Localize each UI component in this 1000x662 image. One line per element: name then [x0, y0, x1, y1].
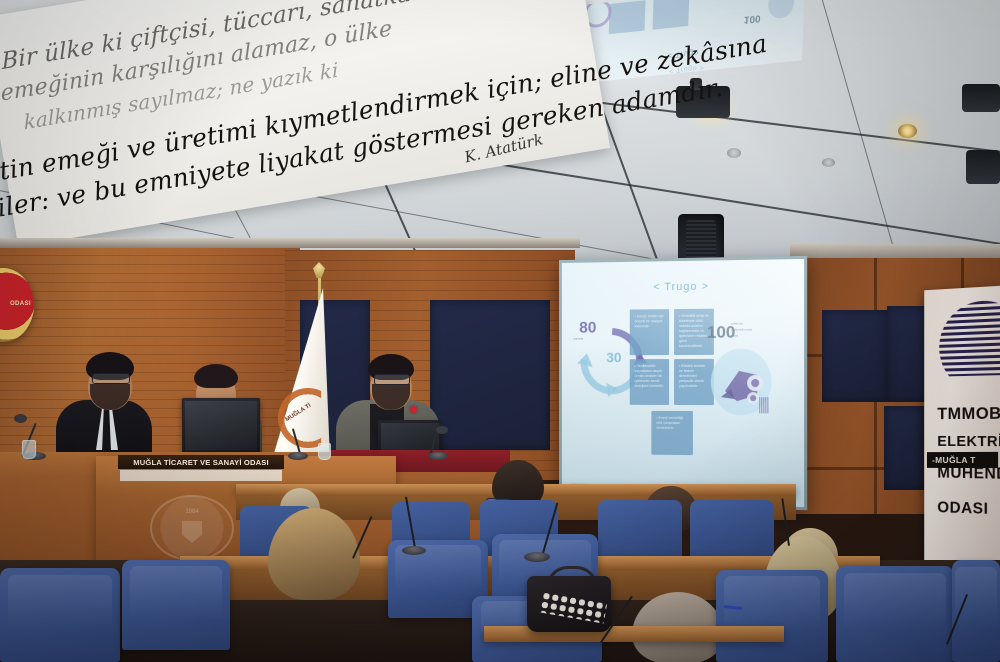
ceiling-spotlight: [898, 124, 917, 138]
rollup-sub-label: -MUĞLA T: [932, 455, 976, 465]
microphone-base: [428, 452, 448, 460]
slide-box: • Enerji verimliliği etüt çalışmaları de…: [651, 411, 693, 455]
audience-chair[interactable]: [0, 568, 120, 662]
ceiling-spotlight: [727, 148, 741, 158]
glasses-icon: [374, 374, 410, 385]
cycle-small-number: 30: [606, 349, 621, 365]
slide-box: • Enerji, üretim için önemli bir maliyet…: [630, 309, 669, 355]
ceiling-equipment: [962, 84, 1000, 112]
microphone-base: [402, 546, 426, 555]
audience-chair[interactable]: [598, 500, 682, 558]
podium-blank-plate: [120, 470, 282, 481]
audience-chair[interactable]: [690, 500, 774, 558]
slide-stat-caption-1: yüzde yüz: [731, 322, 776, 326]
slide-box: • Elektrik tesisatı ve bakım denetimleri…: [674, 359, 714, 405]
cycle-caption: oranında: [573, 338, 588, 341]
ceiling-spotlight: [822, 158, 835, 167]
audience-chair[interactable]: [122, 560, 230, 650]
slide-stat-caption-3: hedefi: [731, 334, 776, 338]
cycle-big-number: 80: [579, 320, 596, 338]
microphone-head-icon: [14, 414, 27, 423]
tmmob-logo-icon: [939, 299, 1000, 377]
flag-emblem-label: MUĞLA Tİ: [285, 403, 313, 423]
podium-nameplate: MUĞLA TİCARET VE SANAYİ ODASI: [118, 455, 284, 469]
ceiling-equipment: [966, 150, 1000, 184]
microphone-base: [288, 452, 308, 460]
lapel-pin-icon: [410, 406, 417, 413]
slide-box: • Yenilenebilir kaynaklara dayalı üretim…: [630, 359, 669, 405]
rollup-line-1: TMMOB: [937, 404, 1000, 425]
rollup-banner: TMMOB ELEKTRİK MÜHENDİSLERİ ODASI: [924, 286, 1000, 581]
wall-trim: [0, 238, 580, 248]
conference-hall-photo: 100 < Trugo > < Trugo > Bir ülke ki çift…: [0, 0, 1000, 662]
audience-chair[interactable]: [716, 570, 828, 662]
glasses-icon: [92, 373, 130, 384]
wall-seal-label: ODASI: [10, 301, 31, 307]
water-glass: [22, 440, 36, 459]
acoustic-panel: [884, 406, 924, 490]
projection-screen-frame: < Trugo > 80 30 oranında • Enerji, üreti…: [559, 256, 807, 510]
microphone-base: [524, 552, 550, 562]
wall-trim: [790, 244, 1000, 258]
acoustic-panel: [822, 310, 888, 402]
reflection-stat-number: 100: [744, 12, 761, 25]
podium-nameplate-text: MUĞLA TİCARET VE SANAYİ ODASI: [133, 458, 268, 467]
panelist-center-hair: [194, 364, 238, 388]
audience-chair[interactable]: [836, 566, 954, 662]
podium-seal-year: 1984: [152, 509, 232, 515]
slide-title: < Trugo >: [562, 279, 804, 294]
projection-screen: < Trugo > 80 30 oranında • Enerji, üreti…: [562, 259, 804, 507]
rollup-line-2: ELEKTRİK: [937, 433, 1000, 450]
rollup-line-4: ODASI: [937, 499, 988, 519]
water-glass: [318, 443, 331, 460]
laptop[interactable]: [182, 398, 261, 454]
podium-seal-emblem: 1984: [150, 495, 234, 561]
acoustic-panel: [430, 300, 550, 450]
slide-barcode-mark: [759, 397, 768, 413]
microphone-head-icon: [436, 426, 448, 434]
podium-seal-crest-icon: [182, 521, 202, 543]
slide-stat-caption-2: yenilenebilir enerji: [731, 328, 776, 332]
